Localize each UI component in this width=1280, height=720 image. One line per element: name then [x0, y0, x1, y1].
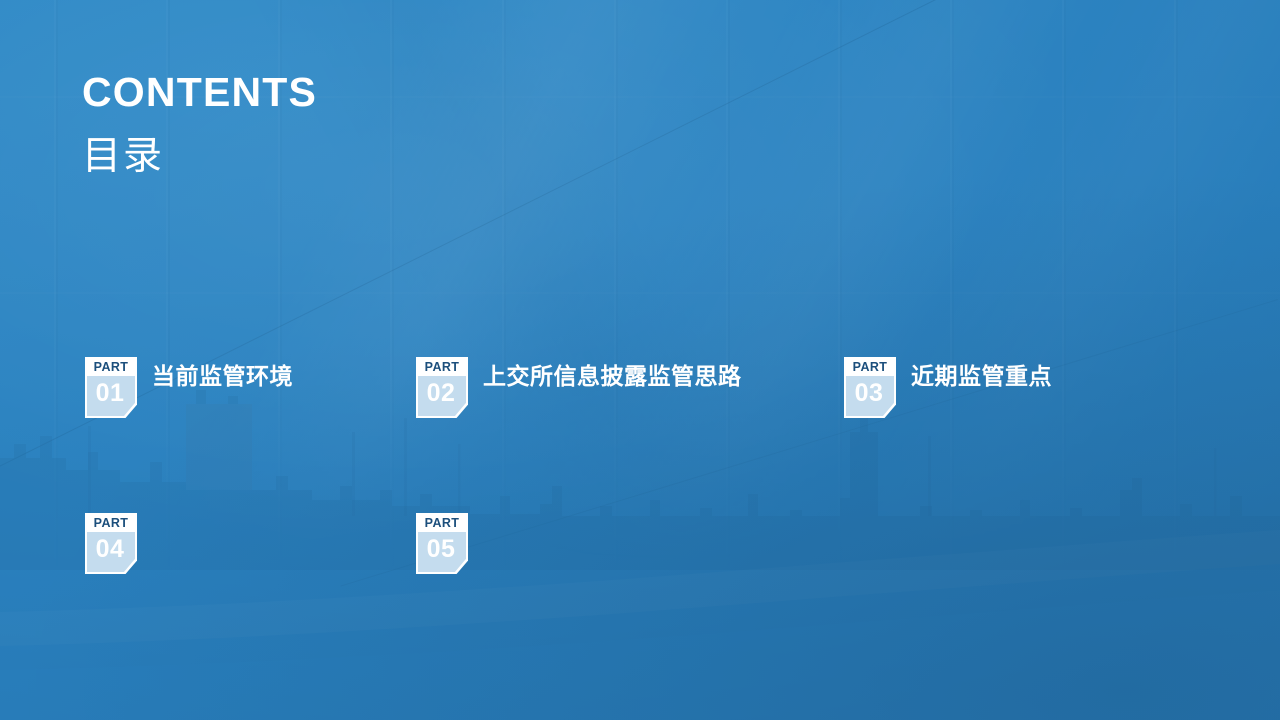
part-badge-03[interactable]: PART 03 — [844, 357, 896, 418]
part-badge-word: PART — [416, 515, 468, 531]
page-title-english: CONTENTS — [82, 72, 317, 113]
part-badge-number: 03 — [844, 376, 894, 416]
part-badge-number: 04 — [85, 532, 135, 572]
contents-entry-label: 当前监管环境 — [152, 364, 293, 392]
page-title-chinese: 目录 — [82, 113, 317, 176]
contents-slide: CONTENTS 目录 PART 01 当前监管环境 PART 02 上交所信息… — [0, 0, 1280, 720]
part-badge-number: 05 — [416, 532, 466, 572]
contents-entry-04[interactable]: PART 04 — [85, 513, 137, 574]
part-badge-word: PART — [85, 359, 137, 375]
part-badge-word: PART — [416, 359, 468, 375]
part-badge-04[interactable]: PART 04 — [85, 513, 137, 574]
contents-entry-01[interactable]: PART 01 当前监管环境 — [85, 357, 293, 418]
part-badge-number: 01 — [85, 376, 135, 416]
part-badge-word: PART — [844, 359, 896, 375]
part-badge-01[interactable]: PART 01 — [85, 357, 137, 418]
contents-entry-label: 上交所信息披露监管思路 — [483, 364, 742, 392]
contents-entry-03[interactable]: PART 03 近期监管重点 — [844, 357, 1052, 418]
title-block: CONTENTS 目录 — [82, 72, 317, 176]
slide-content: CONTENTS 目录 PART 01 当前监管环境 PART 02 上交所信息… — [0, 0, 1280, 720]
contents-entry-label: 近期监管重点 — [911, 364, 1052, 392]
part-badge-02[interactable]: PART 02 — [416, 357, 468, 418]
part-badge-05[interactable]: PART 05 — [416, 513, 468, 574]
part-badge-word: PART — [85, 515, 137, 531]
contents-entry-02[interactable]: PART 02 上交所信息披露监管思路 — [416, 357, 742, 418]
contents-entry-05[interactable]: PART 05 — [416, 513, 468, 574]
part-badge-number: 02 — [416, 376, 466, 416]
